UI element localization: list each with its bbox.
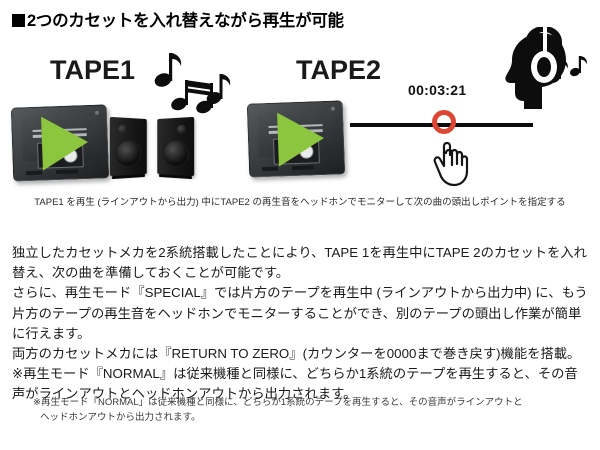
cassette-tape-1 [11,104,110,181]
speaker-base [159,174,192,179]
play-triangle-icon [277,111,325,167]
pointing-hand-cursor-icon [432,137,480,192]
cue-point-marker-icon[interactable] [432,110,456,134]
body-paragraph-3: 両方のカセットメカには『RETURN TO ZERO』(カウンターを0000まで… [12,344,590,364]
illustration-panel: TAPE1 TAPE2 [0,30,600,220]
cassette-foot [56,169,78,174]
tweeter-icon [118,125,127,134]
body-paragraph-2: さらに、再生モード『SPECIAL』では片方のテープを再生中 (ラインアウトから… [12,283,590,344]
page-title-text: 2つのカセットを入れ替えながら再生が可能 [27,12,344,30]
speaker-right [157,117,194,176]
footnote-line-1: ※再生モード「NORMAL」は従来機種と同様に、どちらか1系統のテープを再生する… [33,396,578,411]
body-copy: 独立したカセットメカを2系統搭載したことにより、TAPE 1を再生中にTAPE … [12,243,590,405]
cassette-tape-2 [247,100,346,177]
cassette-foot [292,165,314,170]
cassette-screw-icon [331,107,335,111]
woofer-icon [115,140,141,168]
speaker-left [110,117,147,176]
speaker-base [112,174,145,179]
cassette-foot [26,171,42,176]
tape1-label: TAPE1 [50,55,135,86]
timecode-display: 00:03:21 [408,82,466,98]
cue-timeline[interactable]: 00:03:21 [350,82,550,182]
stereo-speakers-icon [110,115,194,179]
body-paragraph-1: 独立したカセットメカを2系統搭載したことにより、TAPE 1を再生中にTAPE … [12,243,590,283]
footnote: ※再生モード「NORMAL」は従来機種と同様に、どちらか1系統のテープを再生する… [33,396,578,425]
woofer-icon [163,140,189,168]
play-triangle-icon [41,115,89,171]
cassette-foot [262,167,278,172]
music-notes-icon [152,48,236,119]
page-title: 2つのカセットを入れ替えながら再生が可能 [12,7,344,31]
tweeter-icon [177,125,186,134]
square-bullet-icon [12,14,25,27]
cassette-screw-icon [95,111,99,115]
illustration-caption: TAPE1 を再生 (ラインアウトから出力) 中にTAPE2 の再生音をヘッドホ… [0,197,600,209]
footnote-line-2: ヘッドホンアウトから出力されます。 [33,411,578,426]
